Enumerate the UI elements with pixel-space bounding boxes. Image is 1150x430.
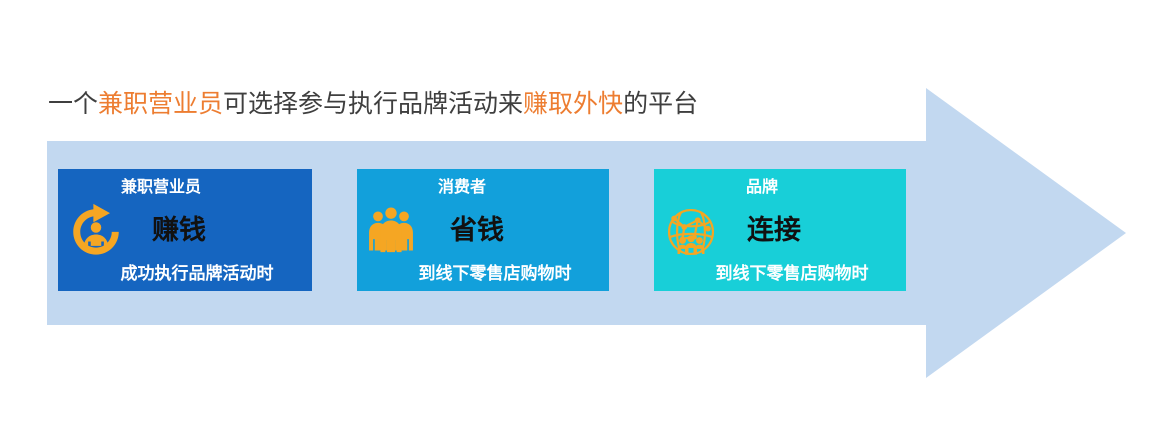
card-brand[interactable]: 品牌	[654, 169, 906, 291]
card-note: 成功执行品牌活动时	[58, 262, 312, 286]
card-title: 赚钱	[58, 213, 312, 247]
card-role-label: 消费者	[357, 177, 609, 199]
card-note: 到线下零售店购物时	[654, 262, 906, 286]
headline-segment-2: 可选择参与执行品牌活动来	[223, 91, 523, 118]
card-role-label: 兼职营业员	[58, 177, 312, 199]
headline-segment-3: 赚取外快	[523, 91, 623, 118]
headline-segment-1: 兼职营业员	[98, 91, 223, 118]
card-note: 到线下零售店购物时	[357, 262, 609, 286]
card-title: 省钱	[357, 213, 609, 247]
slide-canvas: 一个兼职营业员可选择参与执行品牌活动来赚取外快的平台 兼职营业员 赚钱 成功执行…	[0, 0, 1150, 430]
headline-segment-4: 的平台	[623, 91, 698, 118]
card-role-label: 品牌	[654, 177, 906, 199]
card-title: 连接	[654, 213, 906, 247]
card-promoter[interactable]: 兼职营业员 赚钱 成功执行品牌活动时	[58, 169, 312, 291]
card-consumer[interactable]: 消费者 省钱 到线下零售店购物时	[357, 169, 609, 291]
page-title: 一个兼职营业员可选择参与执行品牌活动来赚取外快的平台	[48, 86, 698, 124]
headline-segment-0: 一个	[48, 91, 98, 118]
